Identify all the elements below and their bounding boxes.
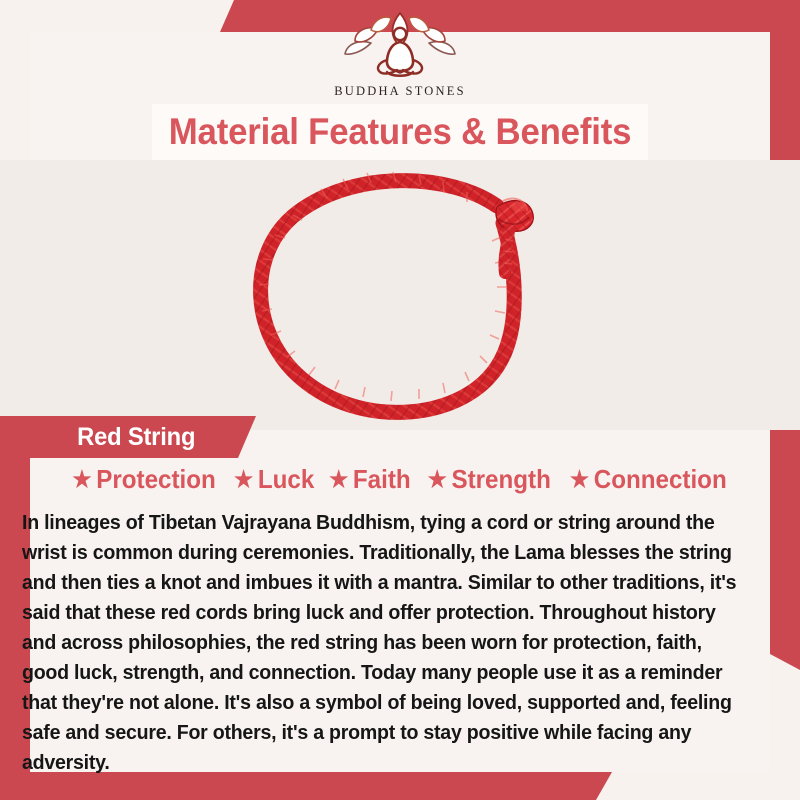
title-banner: Material Features & Benefits [152,104,648,160]
benefit-label: Connection [594,464,727,495]
benefit-item: ★ Luck [234,464,314,495]
benefit-label: Protection [97,464,217,495]
benefits-row: ★ Protection ★ Luck ★ Faith ★ Strength ★… [0,464,800,495]
star-icon: ★ [234,468,253,491]
ribbon-label: Red String [77,423,195,452]
star-icon: ★ [73,468,92,491]
benefit-item: ★ Connection [570,464,727,495]
infographic-page: BUDDHA STONES Material Features & Benefi… [0,0,800,800]
brand-name: BUDDHA STONES [334,84,466,99]
star-icon: ★ [570,468,589,491]
description-paragraph: In lineages of Tibetan Vajrayana Buddhis… [22,508,752,778]
star-icon: ★ [329,468,348,491]
red-string-bracelet-image [235,161,565,429]
benefit-item: ★ Protection [73,464,216,495]
star-icon: ★ [427,468,446,491]
lotus-meditation-icon [325,10,475,82]
benefit-label: Strength [451,464,550,495]
benefit-label: Luck [257,464,313,495]
benefit-item: ★ Faith [329,464,411,495]
page-title: Material Features & Benefits [169,111,631,153]
brand-logo: BUDDHA STONES [0,10,800,99]
benefit-item: ★ Strength [427,464,550,495]
benefit-label: Faith [353,464,411,495]
product-photo [0,160,800,430]
product-ribbon: Red String [0,416,256,458]
